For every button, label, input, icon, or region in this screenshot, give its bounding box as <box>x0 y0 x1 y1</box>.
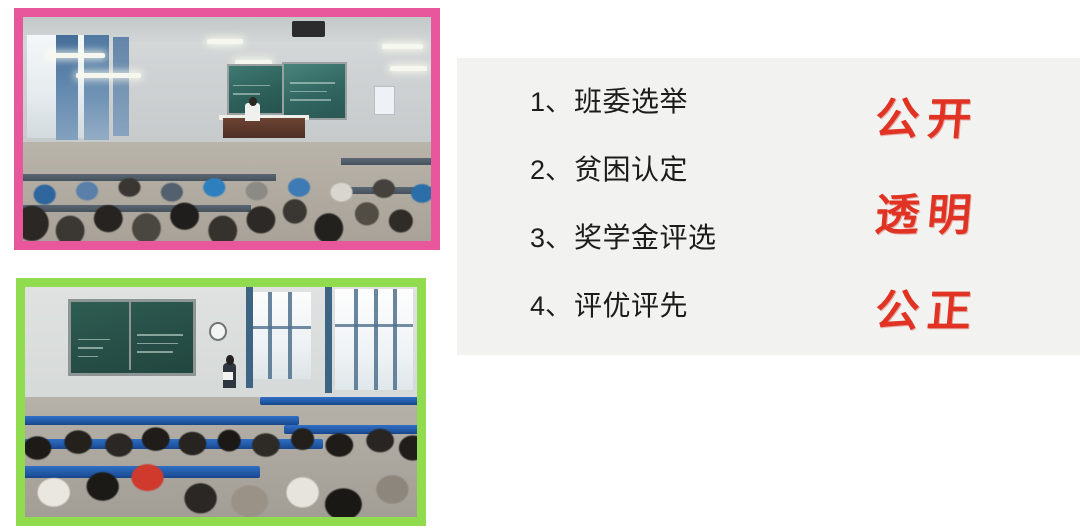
presenter-head <box>226 355 233 365</box>
agenda-item-index: 4、 <box>530 293 572 320</box>
wall-notice <box>374 86 395 115</box>
agenda-item-index: 1、 <box>530 89 572 116</box>
agenda-item-index: 2、 <box>530 157 572 184</box>
photo-lecture-hall-content <box>23 17 431 241</box>
ceiling-light <box>390 66 427 71</box>
agenda-item-2: 2、 贫困认定 <box>530 156 860 224</box>
agenda-item-index: 3、 <box>530 225 572 252</box>
slogan-line-1: 公开 <box>851 98 999 194</box>
agenda-item-label: 班委选举 <box>574 88 688 116</box>
ceiling-light <box>207 39 244 44</box>
slogan-line-2: 透明 <box>851 194 999 290</box>
photo-classroom-blue-desks <box>16 278 426 526</box>
window <box>252 292 311 379</box>
chalkboard <box>68 299 196 376</box>
agenda-item-1: 1、 班委选举 <box>530 88 860 156</box>
agenda-list: 1、 班委选举 2、 贫困认定 3、 奖学金评选 4、 评优评先 <box>530 88 860 360</box>
student-audience <box>23 125 431 241</box>
agenda-item-3: 3、 奖学金评选 <box>530 224 860 292</box>
speaker-head <box>249 97 257 106</box>
slogan-block: 公开 透明 公正 <box>855 98 995 386</box>
ceiling-light <box>76 73 141 78</box>
window-mullion <box>268 292 272 379</box>
window-mullion <box>335 324 413 327</box>
slogan-line-3: 公正 <box>851 290 999 386</box>
window-mullion <box>252 326 311 329</box>
student-audience <box>25 374 417 517</box>
agenda-item-label: 贫困认定 <box>574 156 688 184</box>
photo-classroom-lecture-hall <box>14 8 440 250</box>
curtain <box>113 37 129 136</box>
agenda-item-label: 奖学金评选 <box>574 224 717 252</box>
window-mullion <box>288 292 292 379</box>
photo-blue-desks-content <box>25 287 417 517</box>
chalkboard-right <box>282 62 347 120</box>
agenda-item-4: 4、 评优评先 <box>530 292 860 360</box>
content-panel: 1、 班委选举 2、 贫困认定 3、 奖学金评选 4、 评优评先 公开 透明 公… <box>457 58 1080 355</box>
window-frame-post <box>246 287 253 388</box>
ceiling-light <box>47 53 104 58</box>
wall-clock <box>209 322 227 341</box>
agenda-item-label: 评优评先 <box>574 292 688 320</box>
ceiling-light <box>382 44 423 49</box>
chalkboard-divider <box>129 299 131 370</box>
projector <box>292 21 325 37</box>
